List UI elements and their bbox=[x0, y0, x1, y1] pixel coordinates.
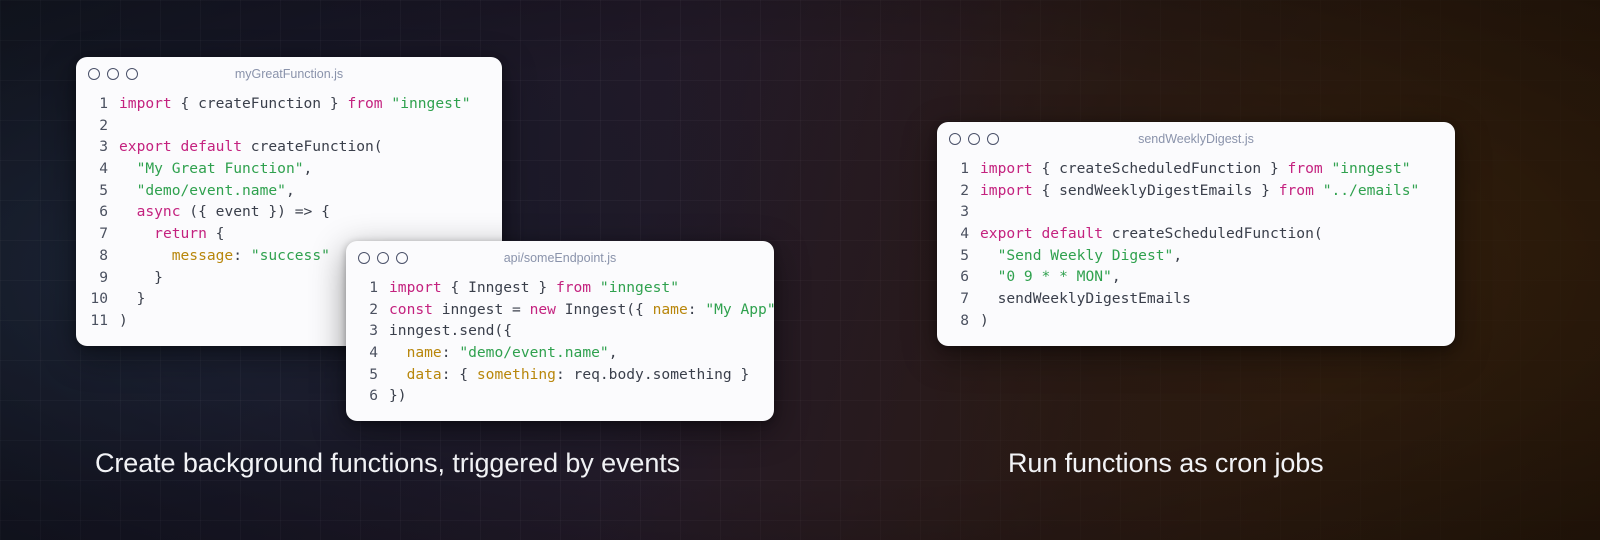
line-number: 3 bbox=[352, 320, 378, 342]
token-kw: from bbox=[1288, 160, 1323, 177]
line-number: 7 bbox=[943, 288, 969, 310]
line-number: 10 bbox=[82, 288, 108, 310]
line-number: 5 bbox=[352, 364, 378, 386]
token-kw: from bbox=[347, 95, 382, 112]
line-number: 5 bbox=[82, 180, 108, 202]
token-pl: } bbox=[119, 290, 145, 307]
line-number: 1 bbox=[943, 158, 969, 180]
token-str: "My App" bbox=[705, 301, 774, 318]
token-pl: , bbox=[609, 344, 618, 361]
code-line: 1import { Inngest } from "inngest" bbox=[352, 277, 760, 299]
line-number: 6 bbox=[352, 385, 378, 407]
token-prop: data bbox=[407, 366, 442, 383]
token-kw: async bbox=[137, 203, 181, 220]
code-line: 6 async ({ event }) => { bbox=[82, 201, 488, 223]
code-line: 4 name: "demo/event.name", bbox=[352, 342, 760, 364]
token-pl: { sendWeeklyDigestEmails } bbox=[1033, 182, 1279, 199]
window-title: myGreatFunction.js bbox=[76, 67, 502, 81]
token-kw: import bbox=[119, 95, 172, 112]
token-kw: import bbox=[980, 160, 1033, 177]
token-pl: createFunction( bbox=[242, 138, 383, 155]
maximize-dot[interactable] bbox=[126, 68, 138, 80]
token-prop: message bbox=[172, 247, 234, 264]
minimize-dot[interactable] bbox=[377, 252, 389, 264]
token-pl bbox=[980, 268, 998, 285]
token-kw: from bbox=[1279, 182, 1314, 199]
code-line: 5 data: { something: req.body.something … bbox=[352, 364, 760, 386]
token-pl bbox=[119, 160, 137, 177]
line-number: 8 bbox=[943, 310, 969, 332]
code-body[interactable]: 1import { createScheduledFunction } from… bbox=[937, 156, 1455, 346]
token-pl: : { bbox=[442, 366, 477, 383]
line-number: 4 bbox=[352, 342, 378, 364]
line-number: 4 bbox=[82, 158, 108, 180]
code-line: 6}) bbox=[352, 385, 760, 407]
line-number: 6 bbox=[82, 201, 108, 223]
line-number: 1 bbox=[82, 93, 108, 115]
traffic-lights bbox=[949, 133, 999, 145]
traffic-lights bbox=[358, 252, 408, 264]
token-pl: Inngest({ bbox=[556, 301, 653, 318]
token-pl bbox=[1314, 182, 1323, 199]
code-window-api-someendpoint-js: api/someEndpoint.js1import { Inngest } f… bbox=[346, 241, 774, 421]
token-kw: export default bbox=[119, 138, 242, 155]
close-dot[interactable] bbox=[88, 68, 100, 80]
code-line: 3export default createFunction( bbox=[82, 136, 488, 158]
token-pl: ({ event }) => { bbox=[181, 203, 330, 220]
token-pl: : bbox=[688, 301, 706, 318]
token-kw: import bbox=[980, 182, 1033, 199]
maximize-dot[interactable] bbox=[396, 252, 408, 264]
code-line: 3 bbox=[943, 201, 1441, 223]
token-pl bbox=[119, 247, 172, 264]
code-line: 3inngest.send({ bbox=[352, 320, 760, 342]
close-dot[interactable] bbox=[949, 133, 961, 145]
token-pl: , bbox=[286, 182, 295, 199]
code-window-sendweeklydigest-js: sendWeeklyDigest.js1import { createSched… bbox=[937, 122, 1455, 346]
caption-left: Create background functions, triggered b… bbox=[95, 448, 680, 479]
token-pl bbox=[591, 279, 600, 296]
line-number: 11 bbox=[82, 310, 108, 332]
window-title: sendWeeklyDigest.js bbox=[937, 132, 1455, 146]
window-titlebar: sendWeeklyDigest.js bbox=[937, 122, 1455, 156]
code-line: 2const inngest = new Inngest({ name: "My… bbox=[352, 299, 760, 321]
token-pl bbox=[980, 247, 998, 264]
line-number: 3 bbox=[82, 136, 108, 158]
window-title: api/someEndpoint.js bbox=[346, 251, 774, 265]
token-pl: inngest = bbox=[433, 301, 530, 318]
token-str: "Send Weekly Digest" bbox=[998, 247, 1174, 264]
line-number: 2 bbox=[943, 180, 969, 202]
token-kw: from bbox=[556, 279, 591, 296]
code-line: 6 "0 9 * * MON", bbox=[943, 266, 1441, 288]
line-number: 2 bbox=[352, 299, 378, 321]
token-pl bbox=[119, 203, 137, 220]
token-pl: { createFunction } bbox=[172, 95, 348, 112]
line-number: 4 bbox=[943, 223, 969, 245]
line-number: 8 bbox=[82, 245, 108, 267]
token-pl: : bbox=[442, 344, 460, 361]
token-str: "inngest" bbox=[1331, 160, 1410, 177]
close-dot[interactable] bbox=[358, 252, 370, 264]
token-str: "0 9 * * MON" bbox=[998, 268, 1112, 285]
caption-right: Run functions as cron jobs bbox=[1008, 448, 1324, 479]
window-titlebar: myGreatFunction.js bbox=[76, 57, 502, 91]
hero-banner: myGreatFunction.js1import { createFuncti… bbox=[0, 0, 1600, 540]
token-pl bbox=[389, 366, 407, 383]
token-prop: name bbox=[653, 301, 688, 318]
line-number: 7 bbox=[82, 223, 108, 245]
code-line: 2 bbox=[82, 115, 488, 137]
token-pl bbox=[119, 225, 154, 242]
token-pl: } bbox=[119, 269, 163, 286]
traffic-lights bbox=[88, 68, 138, 80]
line-number: 2 bbox=[82, 115, 108, 137]
code-line: 8) bbox=[943, 310, 1441, 332]
token-pl: ) bbox=[980, 312, 989, 329]
token-pl: { Inngest } bbox=[442, 279, 556, 296]
code-line: 1import { createFunction } from "inngest… bbox=[82, 93, 488, 115]
token-pl bbox=[389, 344, 407, 361]
window-titlebar: api/someEndpoint.js bbox=[346, 241, 774, 275]
token-kw: export default bbox=[980, 225, 1103, 242]
token-pl: : bbox=[233, 247, 251, 264]
token-pl bbox=[119, 182, 137, 199]
maximize-dot[interactable] bbox=[987, 133, 999, 145]
token-prop: something bbox=[477, 366, 556, 383]
token-kw: import bbox=[389, 279, 442, 296]
code-line: 1import { createScheduledFunction } from… bbox=[943, 158, 1441, 180]
token-kw: const bbox=[389, 301, 433, 318]
token-pl: ) bbox=[119, 312, 128, 329]
token-pl: { bbox=[207, 225, 225, 242]
line-number: 9 bbox=[82, 267, 108, 289]
token-pl: createScheduledFunction( bbox=[1103, 225, 1323, 242]
line-number: 1 bbox=[352, 277, 378, 299]
minimize-dot[interactable] bbox=[968, 133, 980, 145]
code-line: 4 "My Great Function", bbox=[82, 158, 488, 180]
token-pl: inngest.send({ bbox=[389, 322, 512, 339]
token-str: "inngest" bbox=[391, 95, 470, 112]
token-pl: }) bbox=[389, 387, 407, 404]
token-str: "../emails" bbox=[1323, 182, 1420, 199]
code-body[interactable]: 1import { Inngest } from "inngest"2const… bbox=[346, 275, 774, 421]
token-kw: new bbox=[530, 301, 556, 318]
code-line: 2import { sendWeeklyDigestEmails } from … bbox=[943, 180, 1441, 202]
token-pl: { createScheduledFunction } bbox=[1033, 160, 1288, 177]
token-prop: name bbox=[407, 344, 442, 361]
code-line: 5 "Send Weekly Digest", bbox=[943, 245, 1441, 267]
token-pl: sendWeeklyDigestEmails bbox=[980, 290, 1191, 307]
token-pl: , bbox=[1173, 247, 1182, 264]
token-pl: : req.body.something } bbox=[556, 366, 749, 383]
code-line: 7 sendWeeklyDigestEmails bbox=[943, 288, 1441, 310]
token-str: "My Great Function" bbox=[137, 160, 304, 177]
token-kw: return bbox=[154, 225, 207, 242]
token-pl: , bbox=[1112, 268, 1121, 285]
code-line: 4export default createScheduledFunction( bbox=[943, 223, 1441, 245]
token-str: "demo/event.name" bbox=[459, 344, 608, 361]
code-line: 5 "demo/event.name", bbox=[82, 180, 488, 202]
token-str: "demo/event.name" bbox=[137, 182, 286, 199]
line-number: 5 bbox=[943, 245, 969, 267]
minimize-dot[interactable] bbox=[107, 68, 119, 80]
token-str: "inngest" bbox=[600, 279, 679, 296]
line-number: 6 bbox=[943, 266, 969, 288]
token-pl: , bbox=[304, 160, 313, 177]
token-str: "success" bbox=[251, 247, 330, 264]
line-number: 3 bbox=[943, 201, 969, 223]
